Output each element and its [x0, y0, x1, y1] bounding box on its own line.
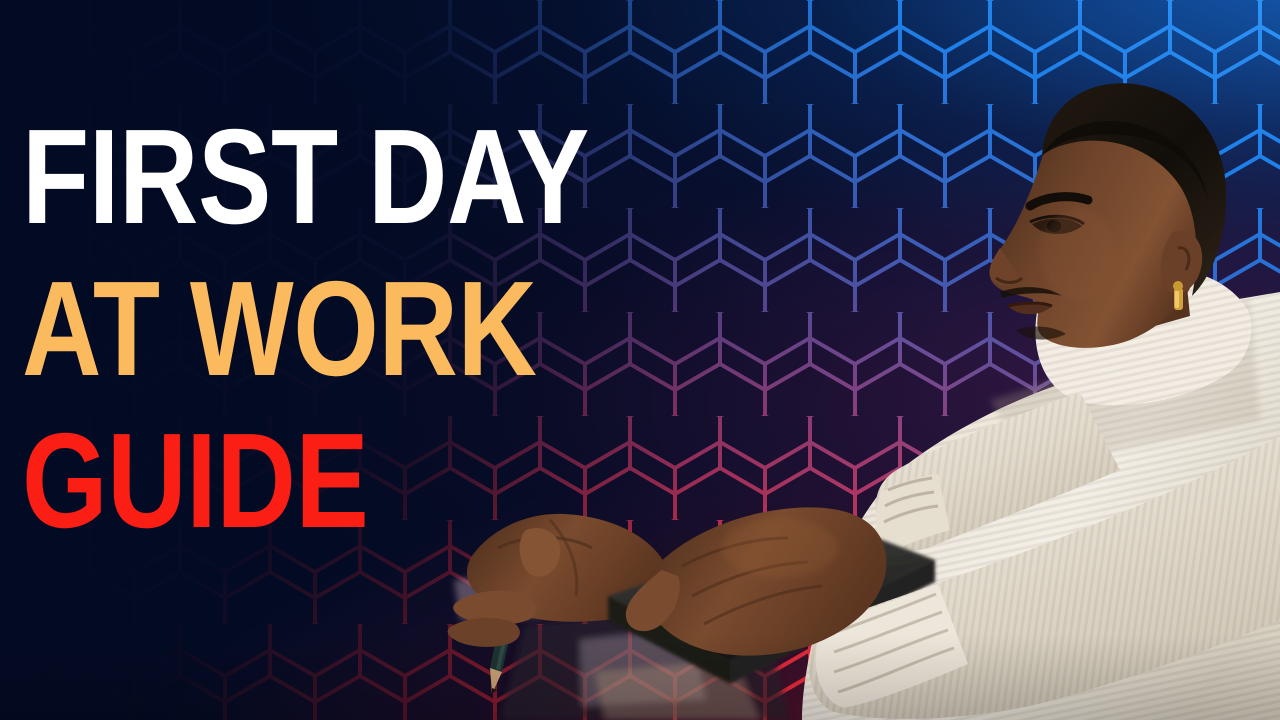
headline-line-guide: GUIDE — [22, 416, 625, 546]
thumbnail-canvas: FIRST DAY AT WORK GUIDE — [0, 0, 1280, 720]
earring-icon — [1173, 281, 1183, 310]
headline-block: FIRST DAY AT WORK GUIDE — [22, 112, 762, 546]
headline-line-first-day: FIRST DAY — [22, 112, 625, 242]
headline-line-at-work: AT WORK — [22, 264, 625, 394]
